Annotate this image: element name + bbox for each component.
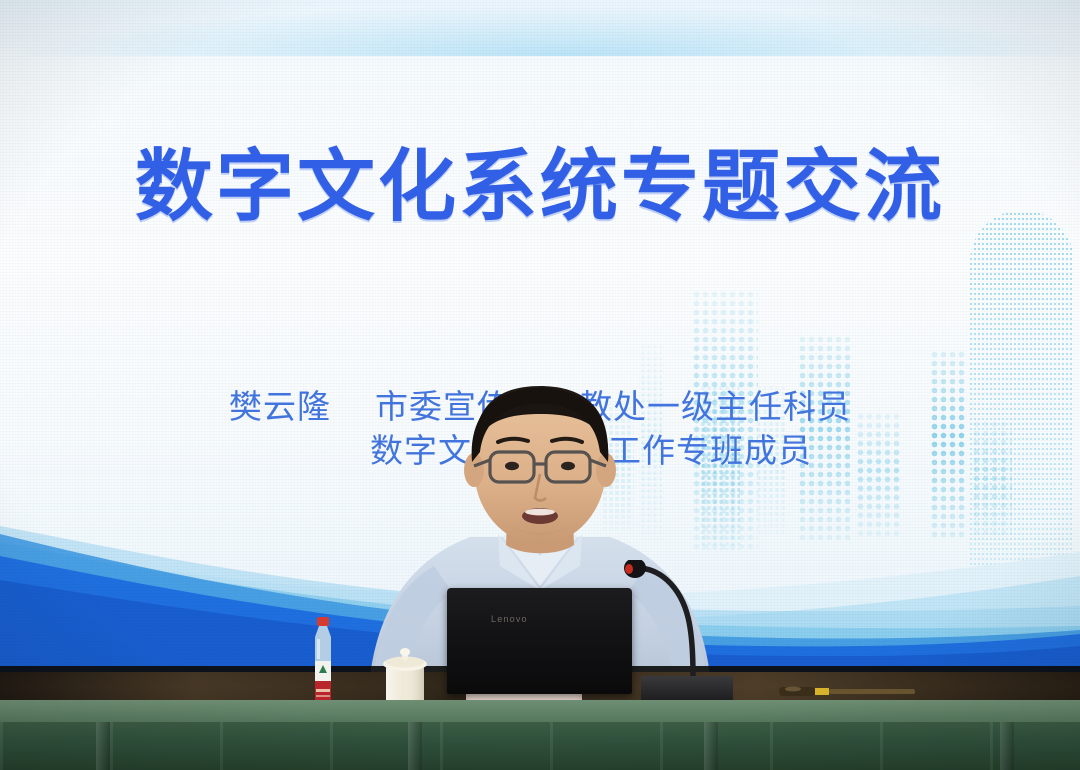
laser-pointer [779,684,919,698]
laptop-brand-label: Lenovo [491,614,528,624]
table-skirt [0,722,1080,770]
water-bottle [306,617,340,712]
screenshot-root: 数字文化系统专题交流 樊云隆市委宣传部宣教处一级主任科员 樊云隆数字文化专题组工… [0,0,1080,770]
microphone-base [641,676,733,702]
laptop: Lenovo [447,588,632,694]
